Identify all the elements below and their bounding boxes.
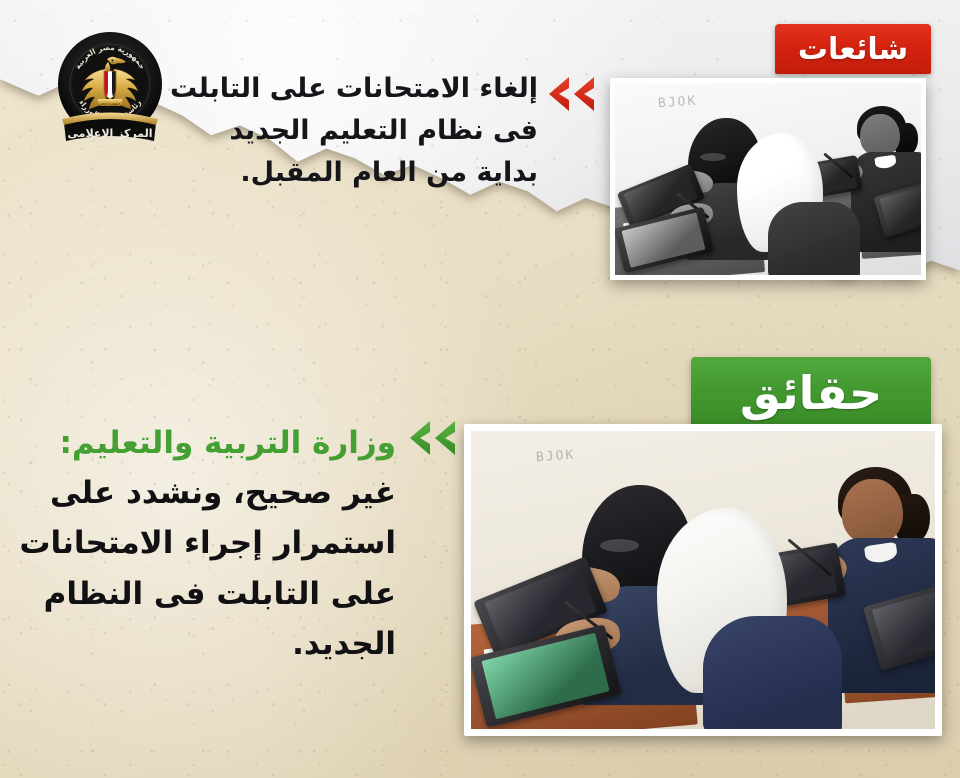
infographic-poster: جمهورية مصر العربية رئاسة مجلس الوزراء [0,0,960,778]
wall-scribble-text: BJOK [535,448,575,466]
svg-text:المركز الإعلامى: المركز الإعلامى [68,127,153,140]
facts-badge: حقائق [691,357,931,429]
student-white-hijab-body [703,616,842,729]
wall-scribble-text: BJOK [657,93,697,111]
fact-statement-text: غير صحيح، ونشدد على استمرار إجراء الامتح… [8,468,396,669]
glasses-icon [699,152,727,162]
student-right-head [860,114,900,156]
fact-text-block: وزارة التربية والتعليم: غير صحيح، ونشدد … [8,418,396,669]
egypt-cabinet-emblem-logo: جمهورية مصر العربية رئاسة مجلس الوزراء [48,27,172,152]
ministry-source-label: وزارة التربية والتعليم: [60,425,396,461]
student-right-head [842,479,902,545]
svg-text:جمهورية مصر: جمهورية مصر [99,102,121,106]
rumors-badge: شائعات [775,24,931,74]
double-chevron-left-icon-red [548,76,596,112]
fact-photo: BJOK [464,424,942,736]
double-chevron-left-icon-green [409,420,457,456]
rumor-text: إلغاء الامتحانات على التابلت فى نظام الت… [170,68,538,194]
student-white-hijab-body [768,202,860,275]
rumor-photo: BJOK [610,78,926,280]
